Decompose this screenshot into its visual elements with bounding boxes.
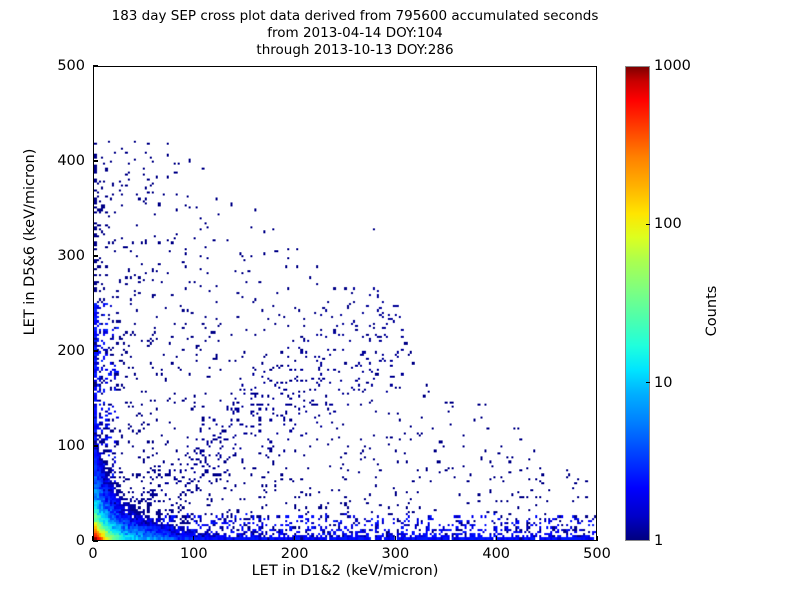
- x-tick-label: 0: [88, 546, 97, 562]
- x-tick-mark: [395, 536, 396, 541]
- x-tick-label: 100: [180, 546, 208, 562]
- colorbar-title: Counts: [704, 211, 720, 411]
- x-tick-label: 200: [281, 546, 309, 562]
- chart-title: 183 day SEP cross plot data derived from…: [0, 8, 710, 59]
- x-tick-label: 500: [583, 546, 611, 562]
- title-line-1: 183 day SEP cross plot data derived from…: [0, 8, 710, 25]
- y-tick-label: 0: [35, 533, 85, 549]
- colorbar-tick-label: 1: [654, 533, 663, 549]
- colorbar: [625, 66, 650, 541]
- y-tick-mark: [93, 255, 98, 256]
- y-tick-label: 100: [35, 438, 85, 454]
- colorbar-tick-label: 10: [654, 375, 672, 391]
- colorbar-tick-mark: [646, 382, 650, 383]
- y-tick-label: 400: [35, 153, 85, 169]
- y-tick-mark: [93, 160, 98, 161]
- x-tick-mark: [496, 536, 497, 541]
- y-axis-label: LET in D5&6 (keV/micron): [22, 92, 38, 392]
- colorbar-gradient: [626, 67, 649, 540]
- colorbar-tick-mark: [646, 224, 650, 225]
- x-tick-label: 300: [382, 546, 410, 562]
- colorbar-tick-label: 100: [654, 216, 682, 232]
- y-tick-mark: [93, 350, 98, 351]
- y-tick-label: 500: [35, 58, 85, 74]
- title-line-2: from 2013-04-14 DOY:104: [0, 25, 710, 42]
- y-tick-mark: [93, 65, 98, 66]
- y-tick-label: 200: [35, 343, 85, 359]
- x-tick-mark: [193, 536, 194, 541]
- y-tick-label: 300: [35, 248, 85, 264]
- scatter-density-canvas: [94, 67, 596, 540]
- colorbar-tick-label: 1000: [654, 58, 691, 74]
- plot-area: [93, 66, 597, 541]
- x-axis-label: LET in D1&2 (keV/micron): [93, 563, 597, 579]
- y-tick-mark: [93, 445, 98, 446]
- x-tick-mark: [596, 536, 597, 541]
- title-line-3: through 2013-10-13 DOY:286: [0, 42, 710, 59]
- x-tick-label: 400: [482, 546, 510, 562]
- x-tick-mark: [294, 536, 295, 541]
- y-tick-mark: [93, 540, 98, 541]
